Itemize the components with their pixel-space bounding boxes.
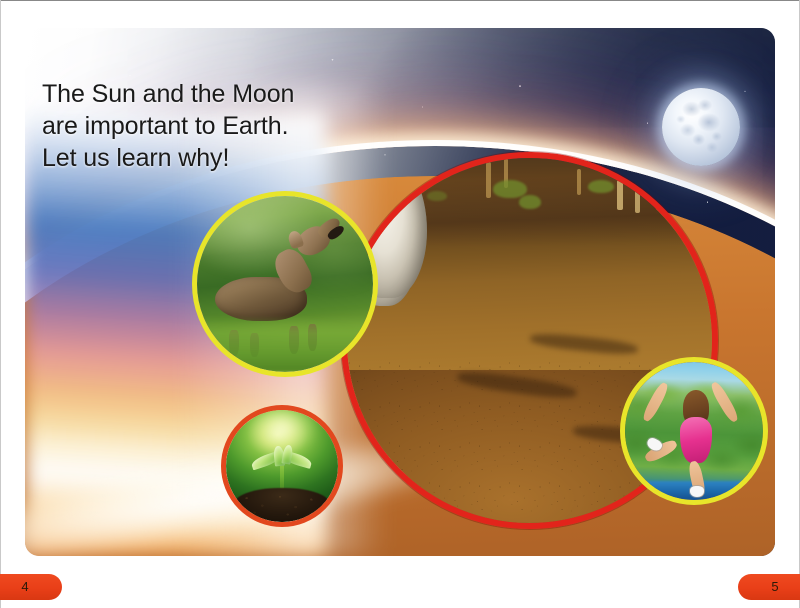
girl-leotard [680,417,712,463]
page-frame-left [0,0,1,608]
book-spread: The Sun and the Moon are important to Ea… [0,0,800,608]
photo-girl-image [625,362,763,500]
page-number-left: 4 [0,574,62,600]
shrub [519,195,541,209]
tree-trunk [635,187,640,213]
headline-line-2: are important to Earth. [42,110,372,142]
page-frame-top [0,0,800,1]
tree-trunk [617,180,623,210]
girl-shoe [690,486,704,497]
tree-trunk [486,162,491,198]
photo-sprout-image [226,410,338,522]
tree-trunk [577,169,581,195]
grass-foreground [197,316,373,372]
shrub [427,191,447,201]
shrub [493,180,527,198]
photo-circle-girl [620,357,768,505]
headline-line-3: Let us learn why! [42,142,372,174]
page-headline: The Sun and the Moon are important to Ea… [42,78,372,174]
headline-line-1: The Sun and the Moon [42,78,372,110]
page-number-right: 5 [738,574,800,600]
photo-circle-coyote [192,191,378,377]
photo-circle-sprout [221,405,343,527]
shrub [588,180,614,193]
moon-icon [662,88,740,166]
moon-craters [662,88,740,166]
soil-clumps [233,488,332,522]
photo-coyote-image [197,196,373,372]
